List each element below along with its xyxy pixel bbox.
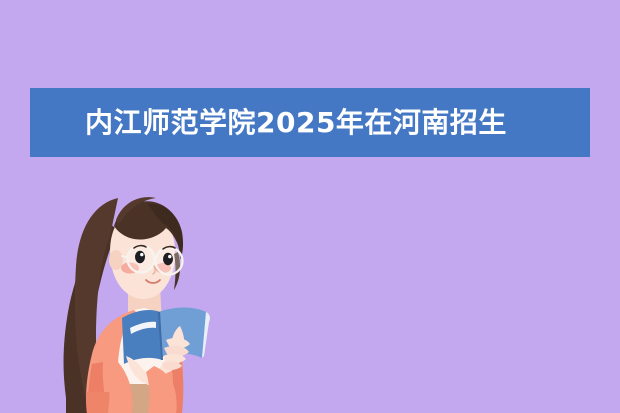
title-banner: 内江师范学院2025年在河南招生 (30, 88, 590, 157)
page-title: 内江师范学院2025年在河南招生 (30, 109, 507, 137)
book-cover-left (122, 310, 162, 364)
eye-left (135, 251, 145, 263)
ear (109, 250, 123, 270)
girl-reading-book-illustration (30, 160, 230, 413)
eye-right (163, 253, 173, 265)
page-root: 内江师范学院2025年在河南招生 (0, 0, 620, 413)
eye-right-highlight (168, 255, 171, 258)
eye-left-highlight (140, 253, 143, 256)
